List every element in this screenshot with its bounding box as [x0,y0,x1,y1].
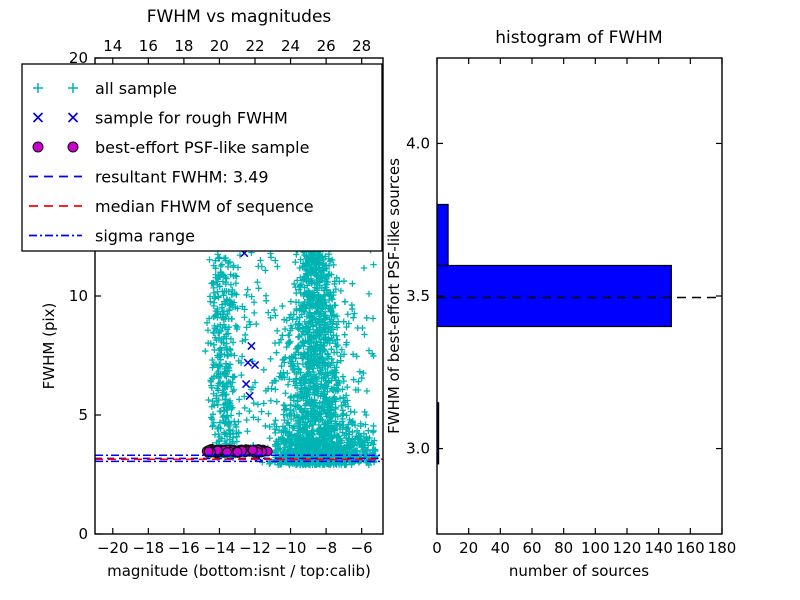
left-xtick-bottom-5: −10 [275,539,307,557]
right-xtick-1: 20 [459,539,478,557]
left-xtick-top-2: 18 [174,37,193,55]
left-xaxis-label: magnitude (bottom:isnt / top:calib) [107,562,371,580]
legend: all samplesample for rough FWHMbest-effo… [22,64,382,251]
legend-label-4: median FHWM of sequence [95,197,314,216]
right-xaxis-label: number of sources [509,562,649,580]
left-xtick-top-4: 22 [245,37,264,55]
left-ytick-5: 5 [78,406,88,424]
right-yaxis-label: FWHM of best-effort PSF-like sources [385,158,403,434]
right-xtick-3: 60 [522,539,541,557]
legend-label-0: all sample [95,79,177,98]
plot-svg: FWHM vs magnitudes −20−18−16−14−12−10−8−… [0,0,800,600]
left-panel-title: FWHM vs magnitudes [147,7,332,27]
right-xtick-6: 120 [613,539,642,557]
histogram-bar-3 [437,204,448,265]
left-yaxis-label: FWHM (pix) [40,303,58,390]
legend-label-3: resultant FWHM: 3.49 [95,168,269,187]
right-ytick-0: 3.0 [406,440,430,458]
left-ytick-0: 0 [78,525,88,543]
right-panel-title: histogram of FWHM [495,28,662,48]
legend-label-2: best-effort PSF-like sample [95,138,309,157]
legend-box [22,64,382,251]
left-xtick-top-3: 20 [210,37,229,55]
left-xtick-bottom-7: −6 [351,539,373,557]
right-xtick-5: 100 [581,539,610,557]
left-xtick-bottom-1: −18 [133,539,165,557]
left-ytick-10: 10 [69,287,88,305]
histogram-bar-2 [437,265,671,326]
right-xtick-7: 140 [644,539,673,557]
left-xtick-top-7: 28 [352,37,371,55]
left-xtick-top-0: 14 [103,37,122,55]
right-xaxis-labels: 020406080100120140160180 [432,539,736,557]
left-xtick-top-6: 26 [317,37,336,55]
legend-label-1: sample for rough FWHM [95,109,288,128]
figure-canvas: FWHM vs magnitudes −20−18−16−14−12−10−8−… [0,0,800,600]
right-xtick-8: 160 [676,539,705,557]
legend-label-5: sigma range [95,227,195,246]
left-xtick-bottom-2: −16 [168,539,200,557]
right-xtick-9: 180 [708,539,737,557]
left-xtick-top-1: 16 [139,37,158,55]
right-xtick-0: 0 [432,539,442,557]
left-xtick-bottom-3: −14 [204,539,236,557]
right-xtick-4: 80 [554,539,573,557]
left-xtick-bottom-6: −8 [315,539,337,557]
right-ytick-2: 4.0 [406,134,430,152]
right-ytick-1: 3.5 [406,287,430,305]
right-xtick-2: 40 [491,539,510,557]
left-xaxis-bottom-labels: −20−18−16−14−12−10−8−6 [97,539,373,557]
left-xtick-top-5: 24 [281,37,300,55]
circle-icon [68,142,78,152]
left-xtick-bottom-0: −20 [97,539,129,557]
circle-icon [33,142,43,152]
left-xtick-bottom-4: −12 [239,539,271,557]
